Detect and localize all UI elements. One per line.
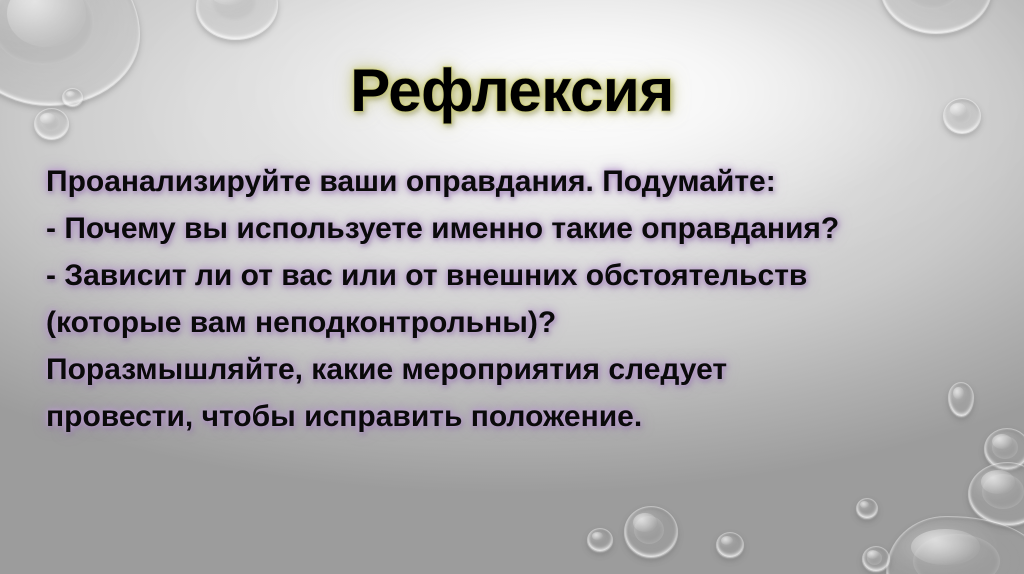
water-droplet-icon <box>196 0 278 40</box>
body-line: Поразмышляйте, какие мероприятия следует <box>46 346 986 393</box>
water-droplet-icon <box>984 428 1024 470</box>
body-line: - Зависит ли от вас или от внешних обсто… <box>46 252 986 299</box>
water-droplet-icon <box>968 462 1024 526</box>
water-droplet-icon <box>880 0 992 34</box>
water-droplet-icon <box>587 528 613 552</box>
water-droplet-icon <box>862 546 890 572</box>
presentation-slide: Рефлексия Проанализируйте ваши оправдани… <box>0 0 1024 574</box>
body-line: Проанализируйте ваши оправдания. Подумай… <box>46 158 986 205</box>
slide-title: Рефлексия <box>0 58 1024 124</box>
slide-body: Проанализируйте ваши оправдания. Подумай… <box>46 158 986 440</box>
water-droplet-icon <box>716 532 744 558</box>
water-droplet-icon <box>624 506 678 558</box>
body-line: провести, чтобы исправить положение. <box>46 393 986 440</box>
body-line: - Почему вы используете именно такие опр… <box>46 205 986 252</box>
body-line: (которые вам неподконтрольны)? <box>46 299 986 346</box>
water-droplet-icon <box>856 498 878 519</box>
water-droplet-icon <box>886 516 1024 574</box>
